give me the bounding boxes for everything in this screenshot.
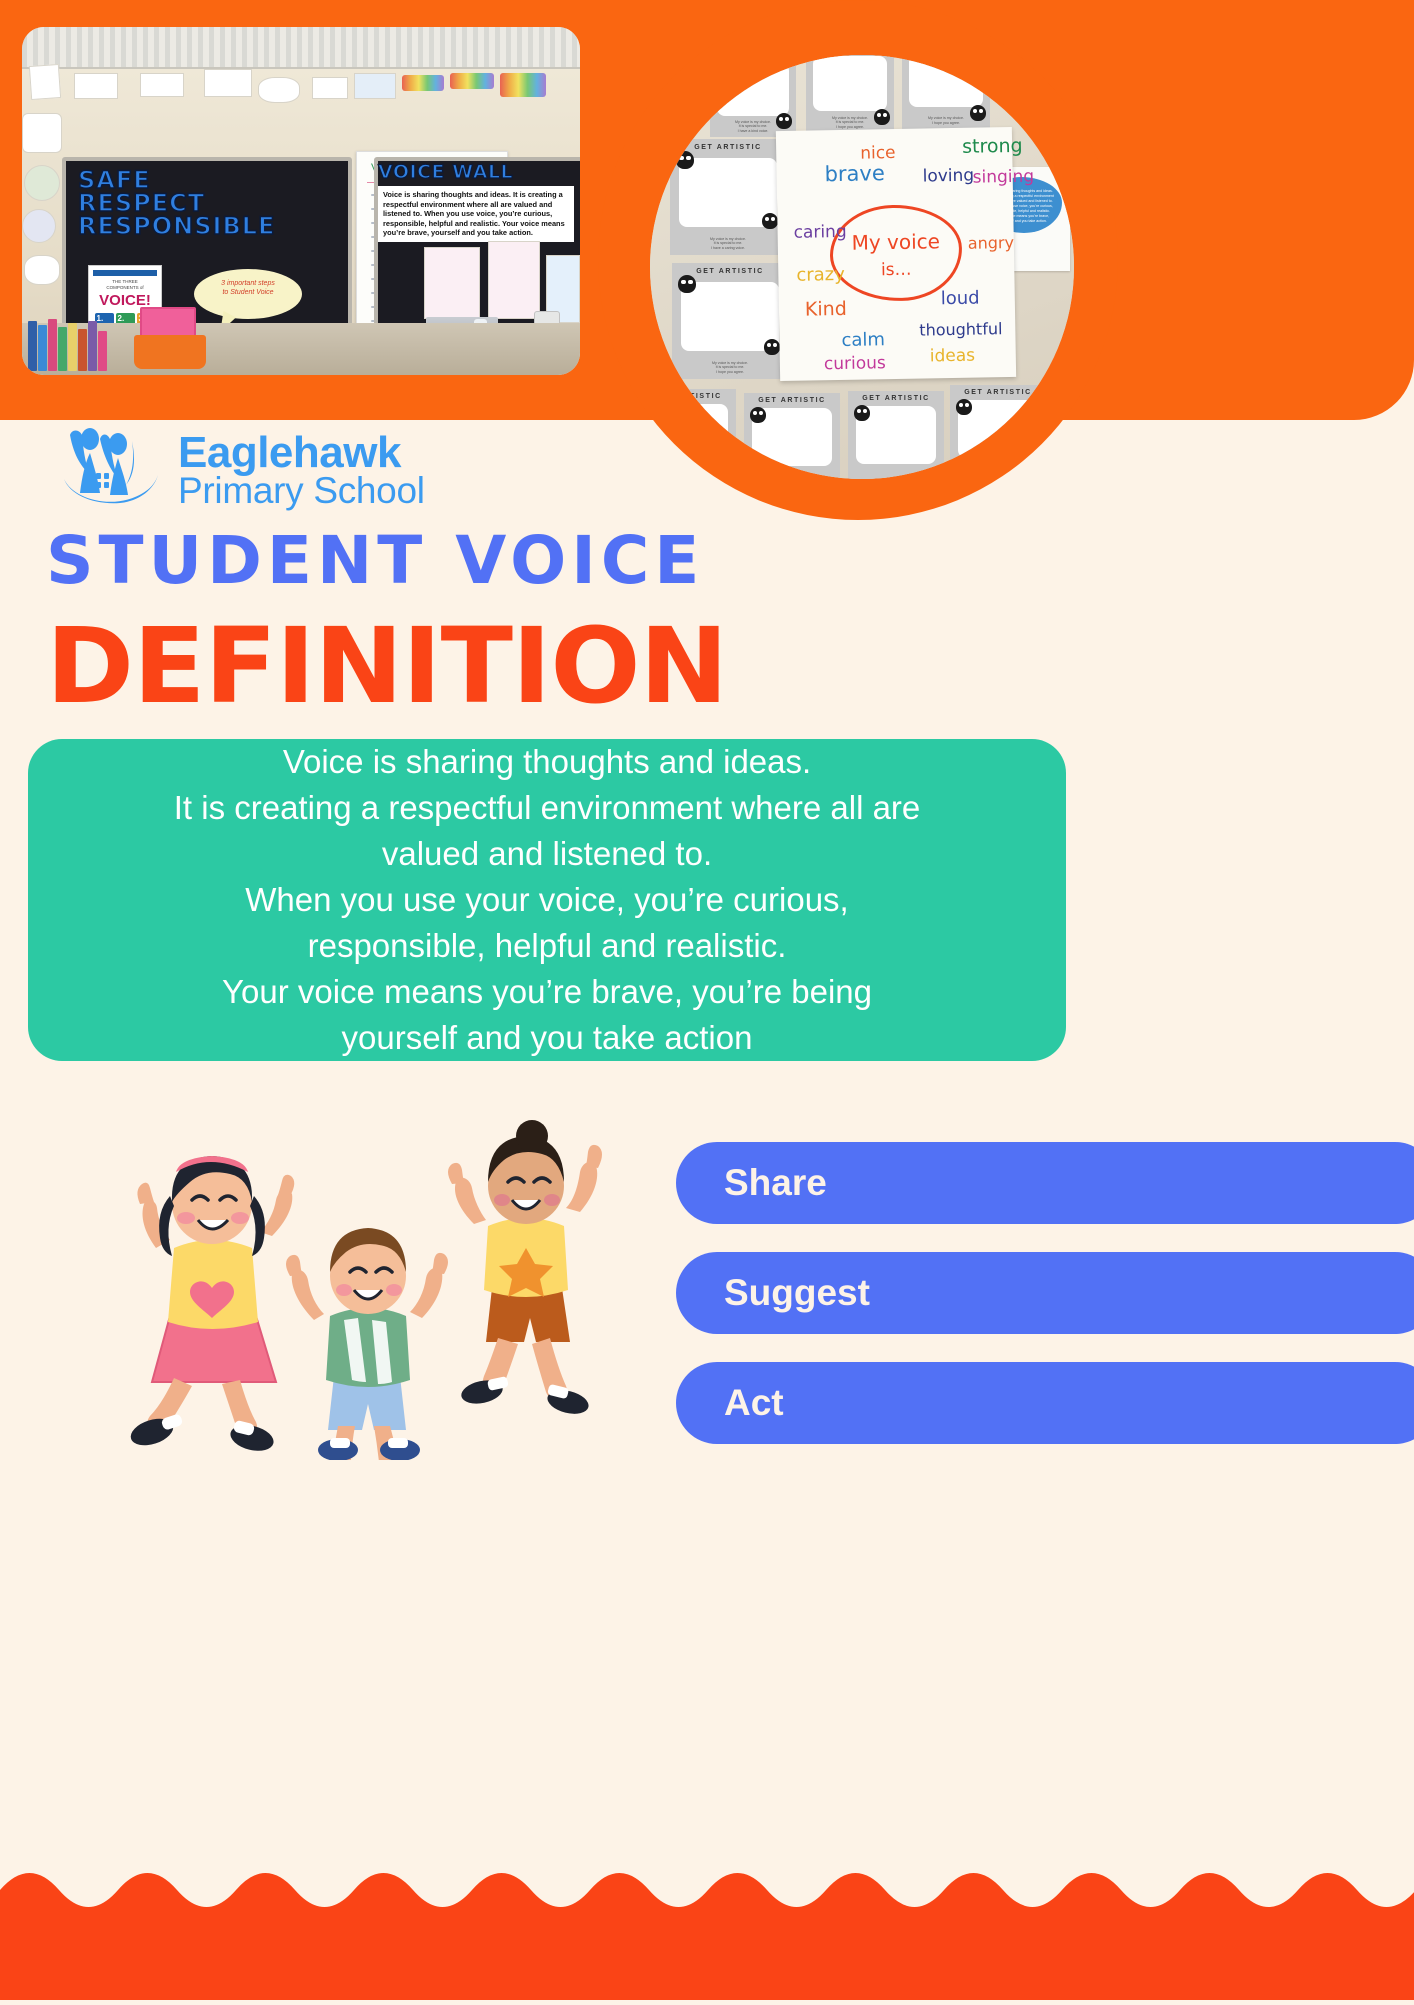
wall-paper: [29, 64, 61, 100]
student-artwork: My voice is my choice.I hope you agree.: [902, 55, 990, 129]
wall-paper: [488, 241, 540, 319]
voice-word-curious: curious: [824, 353, 886, 374]
voice-word-loving: loving: [922, 166, 974, 187]
student-artwork: GET ARTISTIC: [650, 389, 736, 479]
photo-wall: SAFERESPECTRESPONSIBLE THE THREECOMPONEN…: [22, 69, 580, 375]
student-artwork: GET ARTISTIC My voice is my choice.It is…: [670, 139, 786, 255]
my-voice-poster: My voice is… nice brave loving strong si…: [776, 127, 1016, 381]
footer-wave: [0, 1850, 1414, 2000]
classroom-photo: SAFERESPECTRESPONSIBLE THE THREECOMPONEN…: [22, 27, 580, 375]
student-artwork: GET ARTISTIC: [848, 391, 944, 479]
kid-girl: [127, 1156, 294, 1455]
rainbow-artwork: [402, 75, 444, 91]
voice-word-thoughtful: thoughtful: [919, 319, 1002, 339]
wall-paper: [258, 77, 300, 103]
school-children-logo-icon: [60, 427, 164, 513]
suggest-button[interactable]: Suggest: [676, 1252, 1414, 1334]
cloud-line-2: is…: [833, 259, 959, 281]
voice-wall-title: VOICE WALL: [378, 161, 580, 183]
school-logo-text: Eaglehawk Primary School: [178, 432, 425, 509]
act-button[interactable]: Act: [676, 1362, 1414, 1444]
definition-card: Voice is sharing thoughts and ideas.It i…: [28, 739, 1066, 1061]
voice-word-kind: Kind: [805, 298, 847, 321]
wall-paper: [74, 73, 118, 99]
wall-paper: [354, 73, 396, 99]
student-artwork: GET ARTISTIC: [744, 393, 840, 479]
voice-word-ideas: ideas: [930, 346, 976, 367]
voice-word-crazy: crazy: [796, 264, 845, 286]
wall-paper: [24, 165, 60, 201]
artwork-label: GET ARTISTIC: [672, 268, 788, 275]
logo-line-2: Primary School: [178, 473, 425, 508]
student-artwork: GET ARTISTIC My voice is my choice.It is…: [672, 263, 788, 379]
books-stack: [28, 315, 120, 371]
voice-word-strong: strong: [962, 135, 1023, 158]
wall-paper: [22, 209, 56, 243]
rainbow-artwork: [500, 73, 546, 97]
jumping-kids-illustration: [100, 1120, 660, 1460]
voice-display-photo: My voice is my choice.It is special to m…: [650, 55, 1074, 479]
action-buttons-group: Share Suggest Act: [676, 1142, 1414, 1472]
classroom-blackboard: SAFERESPECTRESPONSIBLE THE THREECOMPONEN…: [62, 157, 352, 337]
kid-boy-middle: [286, 1228, 448, 1460]
wall-paper: [424, 247, 480, 319]
voice-wall-body: Voice is sharing thoughts and ideas. It …: [378, 186, 574, 242]
student-artwork: My voice is my choice.It is special to m…: [710, 55, 796, 137]
voice-word-loud: loud: [941, 288, 980, 310]
rainbow-artwork: [450, 73, 494, 89]
voice-word-singing: singing: [973, 167, 1035, 188]
wall-paper: [312, 77, 348, 99]
board-heading: SAFERESPECTRESPONSIBLE: [78, 169, 343, 238]
page-title: STUDENT VOICE: [46, 528, 1146, 594]
wall-paper: [140, 73, 184, 97]
school-logo: Eaglehawk Primary School: [60, 420, 660, 520]
student-artwork: GET ARTISTIC: [950, 385, 1046, 479]
wall-paper: [22, 113, 62, 153]
logo-line-1: Eaglehawk: [178, 432, 425, 474]
voice-word-angry: angry: [968, 233, 1014, 253]
speech-cloud-note: 3 important stepsto Student Voice: [194, 269, 302, 319]
photo-ceiling: [22, 27, 580, 69]
kid-boy-right: [448, 1120, 602, 1418]
wall-paper: [24, 255, 60, 285]
voice-word-calm: calm: [841, 329, 885, 351]
voice-word-caring: caring: [793, 222, 846, 243]
wall-paper: [204, 69, 252, 97]
page-subtitle: DEFINITION: [46, 614, 1168, 718]
artwork-label: GET ARTISTIC: [670, 144, 786, 151]
definition-text: Voice is sharing thoughts and ideas.It i…: [67, 739, 1027, 1061]
cloud-line-1: My voice: [833, 229, 959, 255]
orange-basket: [134, 335, 206, 369]
voice-word-brave: brave: [824, 161, 885, 186]
share-button[interactable]: Share: [676, 1142, 1414, 1224]
student-artwork: My voice is my choice.It is special to m…: [806, 55, 894, 133]
